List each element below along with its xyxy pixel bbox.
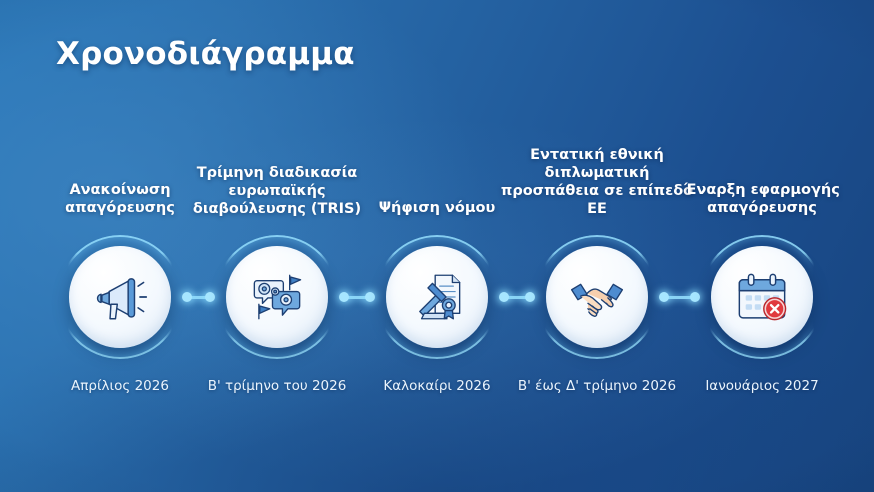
connector-dot-left bbox=[339, 292, 349, 302]
node-disc bbox=[226, 246, 328, 348]
gavel-document-icon bbox=[408, 268, 466, 326]
milestone-node-law-vote[interactable] bbox=[375, 235, 499, 359]
connector-dot-right bbox=[205, 292, 215, 302]
handshake-icon bbox=[568, 268, 626, 326]
page-title: Χρονοδιάγραμμα bbox=[56, 36, 355, 72]
node-disc bbox=[69, 246, 171, 348]
slide-canvas: Χρονοδιάγραμμα Ανακοίνωση απαγόρευσης bbox=[0, 0, 874, 492]
connector-dot-right bbox=[525, 292, 535, 302]
node-disc bbox=[546, 246, 648, 348]
calendar-blocked-icon bbox=[733, 268, 791, 326]
timeline-connector-3 bbox=[499, 292, 535, 302]
connector-dot-right bbox=[690, 292, 700, 302]
megaphone-icon bbox=[91, 268, 149, 326]
timeline-connector-4 bbox=[659, 292, 700, 302]
consultation-speech-bubbles-icon bbox=[248, 268, 306, 326]
milestone-node-eu-diplomacy[interactable] bbox=[535, 235, 659, 359]
milestone-node-announcement[interactable] bbox=[58, 235, 182, 359]
milestone-label: Έναρξη εφαρμογής απαγόρευσης bbox=[662, 181, 862, 217]
connector-dot-left bbox=[499, 292, 509, 302]
milestone-ban-enforcement[interactable]: Έναρξη εφαρμογής απαγόρευσης bbox=[662, 165, 862, 217]
connector-dot-left bbox=[659, 292, 669, 302]
milestone-node-ban-enforcement[interactable] bbox=[700, 235, 824, 359]
milestone-date: Ιανουάριος 2027 bbox=[662, 378, 862, 396]
node-disc bbox=[711, 246, 813, 348]
node-disc bbox=[386, 246, 488, 348]
milestone-node-tris-consultation[interactable] bbox=[215, 235, 339, 359]
timeline-connector-1 bbox=[182, 292, 215, 302]
connector-dot-right bbox=[365, 292, 375, 302]
connector-dot-left bbox=[182, 292, 192, 302]
timeline-connector-2 bbox=[339, 292, 375, 302]
timeline: Ανακοίνωση απαγόρευσης bbox=[0, 0, 874, 492]
